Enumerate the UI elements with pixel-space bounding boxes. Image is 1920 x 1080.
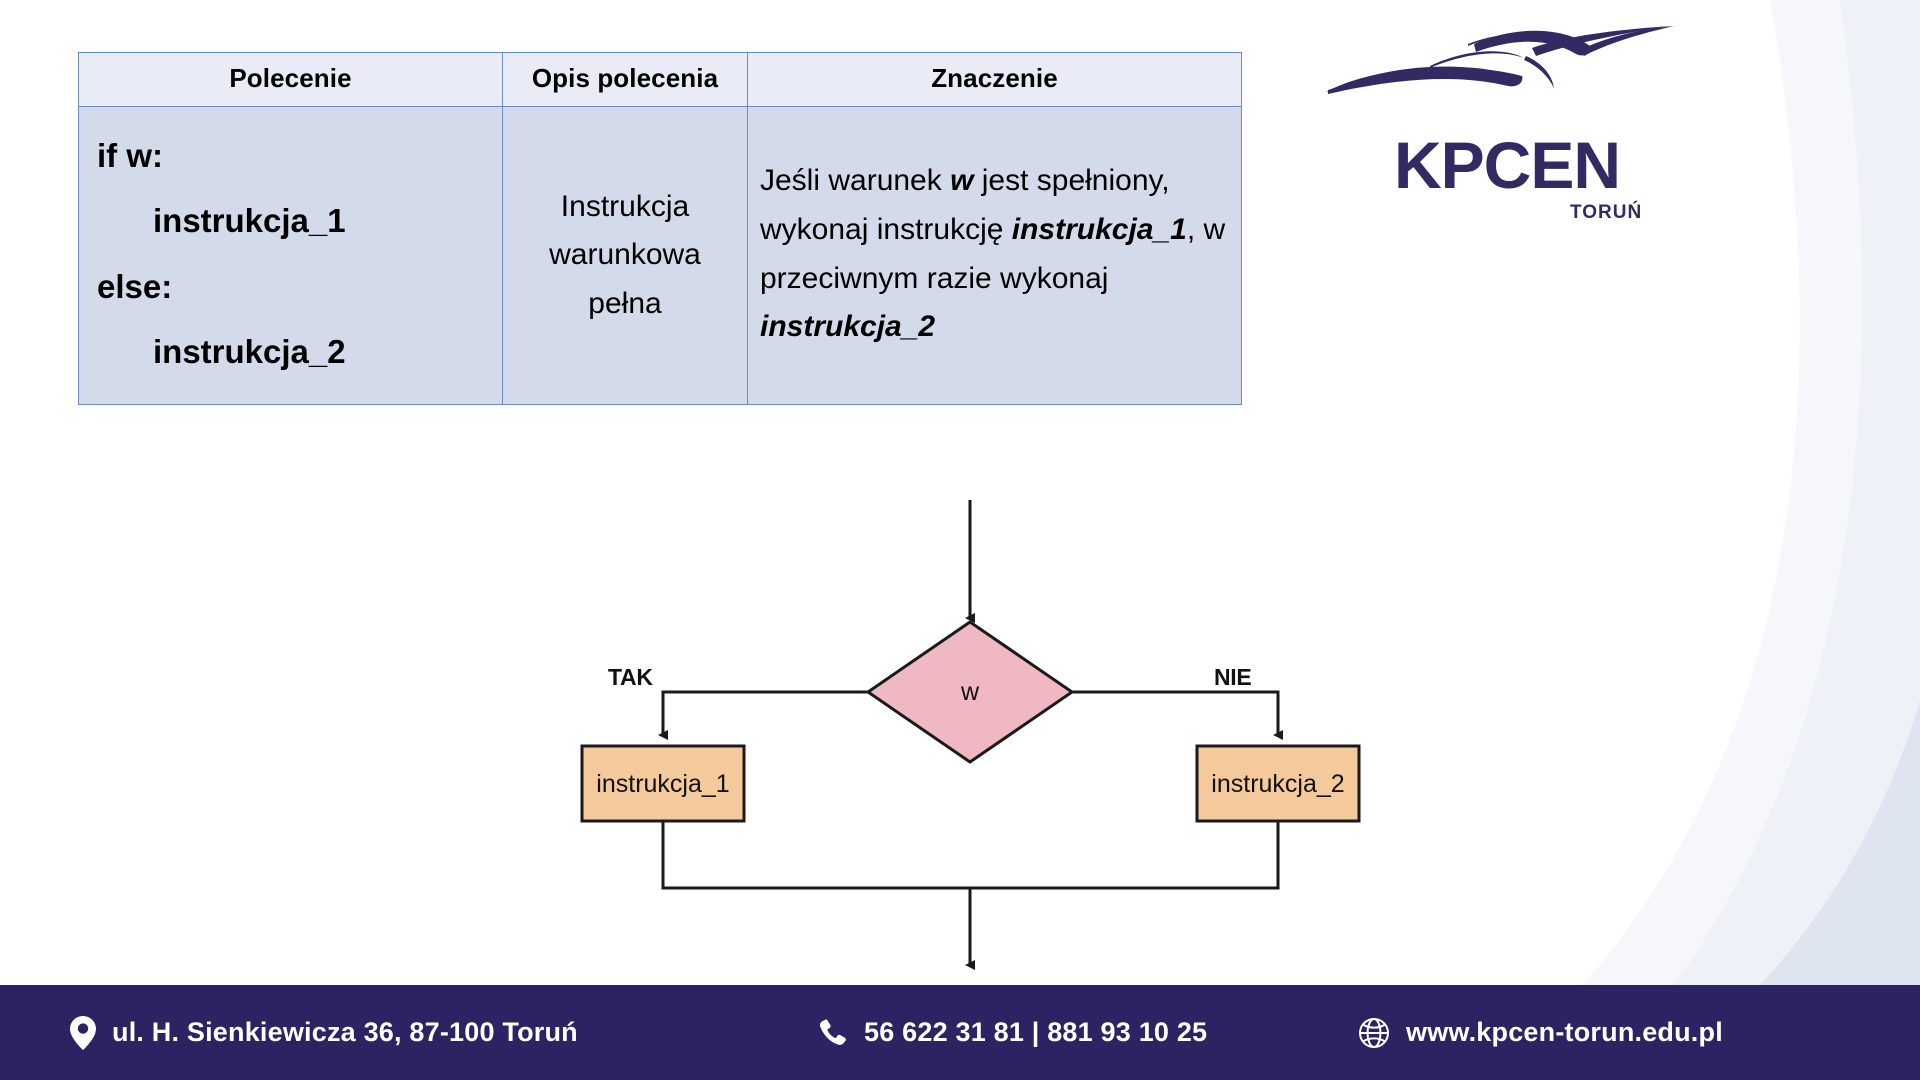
footer-website: www.kpcen-torun.edu.pl [1358, 1017, 1723, 1049]
footer-phone-text: 56 622 31 81 | 881 93 10 25 [864, 1017, 1207, 1048]
flowchart: TAK NIE w instrukcja_1 instrukcja_2 [560, 500, 1380, 980]
flow-merge-line [663, 821, 1278, 888]
code-line-body-1: instrukcja_1 [97, 188, 492, 253]
logo-subtitle: TORUŃ [1570, 202, 1642, 224]
footer-phone: 56 622 31 81 | 881 93 10 25 [818, 1017, 1207, 1048]
branch-label-no: NIE [1214, 664, 1251, 691]
meaning-text-1: Jeśli warunek [760, 164, 950, 197]
process-label-right: instrukcja_2 [1197, 772, 1359, 797]
footer-bar: ul. H. Sienkiewicza 36, 87-100 Toruń 56 … [0, 985, 1920, 1080]
column-header-meaning: Znaczenie [748, 53, 1242, 107]
footer-address: ul. H. Sienkiewicza 36, 87-100 Toruń [70, 1016, 578, 1050]
decision-label: w [868, 680, 1072, 705]
table-row: if w: instrukcja_1 else: instrukcja_2 In… [79, 107, 1242, 405]
map-pin-icon [70, 1016, 96, 1050]
cell-command-description: Instrukcja warunkowa pełna [503, 107, 748, 405]
cell-command-meaning: Jeśli warunek w jest spełniony, wykonaj … [748, 107, 1242, 405]
flow-yes-branch [663, 692, 868, 735]
phone-icon [818, 1018, 848, 1048]
column-header-command: Polecenie [79, 53, 503, 107]
table-header-row: Polecenie Opis polecenia Znaczenie [79, 53, 1242, 107]
cell-command-code: if w: instrukcja_1 else: instrukcja_2 [79, 107, 503, 405]
kpcen-logo: KPCEN TORUŃ [1318, 22, 1678, 222]
flow-no-branch [1072, 692, 1278, 735]
code-line-if: if w: [97, 123, 492, 188]
process-label-left: instrukcja_1 [582, 772, 744, 797]
meaning-emph-w: w [950, 164, 973, 197]
footer-website-text: www.kpcen-torun.edu.pl [1406, 1017, 1723, 1048]
meaning-emph-instrukcja-2: instrukcja_2 [760, 310, 935, 343]
column-header-description: Opis polecenia [503, 53, 748, 107]
code-line-body-2: instrukcja_2 [97, 319, 492, 384]
meaning-emph-instrukcja-1: instrukcja_1 [1012, 213, 1187, 246]
globe-icon [1358, 1017, 1390, 1049]
logo-wordmark: KPCEN [1394, 132, 1620, 198]
commands-table: Polecenie Opis polecenia Znaczenie if w:… [78, 52, 1242, 405]
code-line-else: else: [97, 254, 492, 319]
footer-address-text: ul. H. Sienkiewicza 36, 87-100 Toruń [112, 1017, 578, 1048]
branch-label-yes: TAK [608, 664, 653, 691]
